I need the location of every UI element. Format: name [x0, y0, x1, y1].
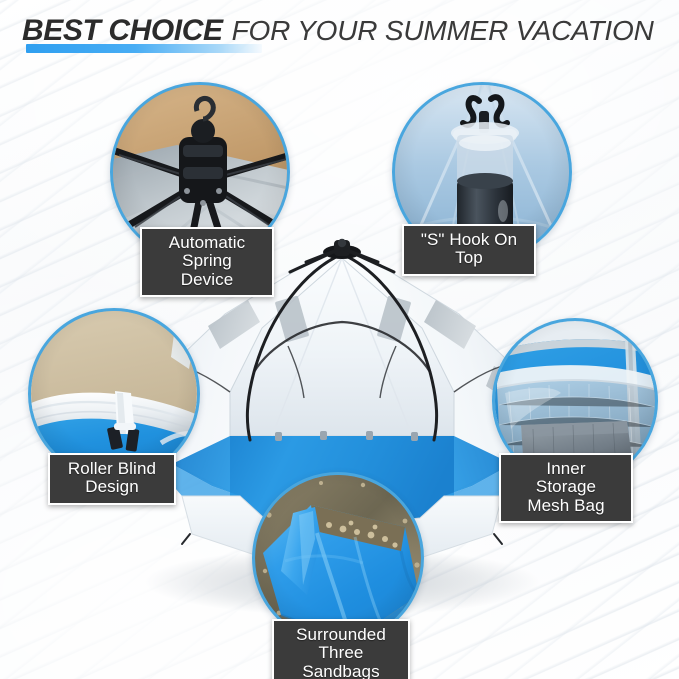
photo-sandbag: [255, 475, 421, 641]
caption-automatic-spring-device: Automatic Spring Device: [140, 227, 274, 297]
headline-secondary: FOR YOUR SUMMER VACATION: [232, 15, 654, 47]
caption-surrounded-three-sandbags: Surrounded Three Sandbags: [272, 619, 410, 679]
infographic-canvas: BEST CHOICE FOR YOUR SUMMER VACATION: [0, 0, 679, 679]
sandbag-art: [255, 475, 421, 641]
caption-s-hook-on-top: "S" Hook On Top: [402, 224, 536, 276]
header-banner: BEST CHOICE FOR YOUR SUMMER VACATION: [0, 0, 679, 62]
caption-roller-blind-design: Roller Blind Design: [48, 453, 176, 505]
headline-primary: BEST CHOICE: [22, 14, 223, 48]
caption-inner-storage-mesh-bag: Inner Storage Mesh Bag: [499, 453, 633, 523]
